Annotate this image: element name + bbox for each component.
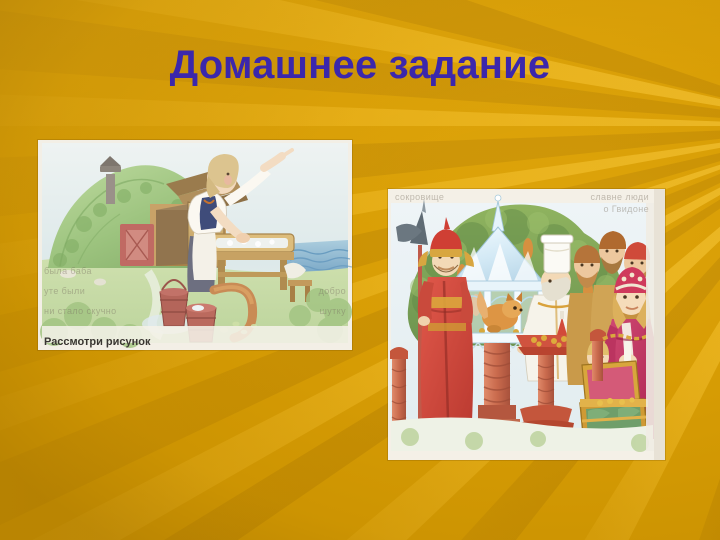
image-washerwoman[interactable]: была баба уте были ни стало скучно добро… [38,140,352,350]
squirrel-tale-artwork [388,189,665,460]
washerwoman-artwork [38,140,352,350]
image-squirrel-tale[interactable]: сокровище славне люди о Гвидоне [388,189,665,460]
slide-canvas: Домашнее задание [0,0,720,540]
page-title: Домашнее задание [0,44,720,86]
